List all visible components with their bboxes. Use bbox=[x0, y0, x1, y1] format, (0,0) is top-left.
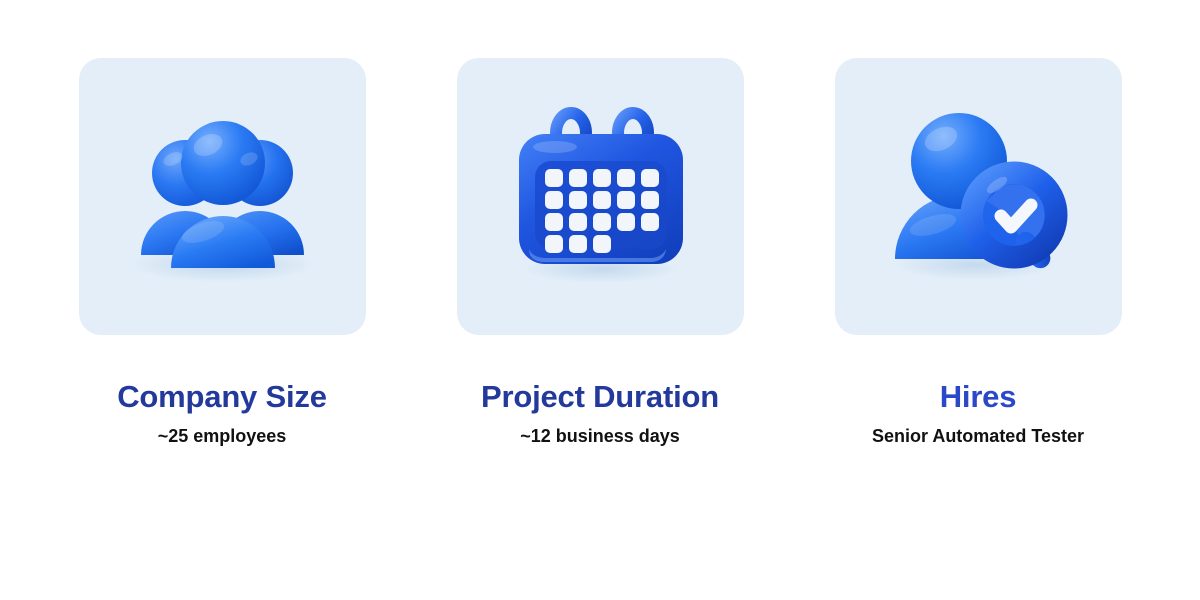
stats-card-row: Company Size ~25 employees bbox=[0, 0, 1200, 446]
icon-tile-hires bbox=[835, 58, 1122, 335]
stats-board: Company Size ~25 employees bbox=[0, 0, 1200, 600]
people-group-icon bbox=[115, 89, 330, 304]
stat-card-company-size: Company Size ~25 employees bbox=[79, 58, 366, 446]
user-search-check-icon bbox=[871, 89, 1086, 304]
card-title-company-size: Company Size bbox=[117, 381, 326, 414]
card-subtitle-project-duration: ~12 business days bbox=[520, 427, 680, 447]
card-title-project-duration: Project Duration bbox=[481, 381, 719, 414]
card-subtitle-company-size: ~25 employees bbox=[158, 427, 287, 447]
stat-card-hires: Hires Senior Automated Tester bbox=[835, 58, 1122, 446]
icon-tile-company-size bbox=[79, 58, 366, 335]
card-title-hires: Hires bbox=[940, 381, 1017, 414]
stat-card-project-duration: Project Duration ~12 business days bbox=[457, 58, 744, 446]
calendar-icon bbox=[493, 89, 708, 304]
icon-tile-project-duration bbox=[457, 58, 744, 335]
card-subtitle-hires: Senior Automated Tester bbox=[872, 427, 1084, 447]
